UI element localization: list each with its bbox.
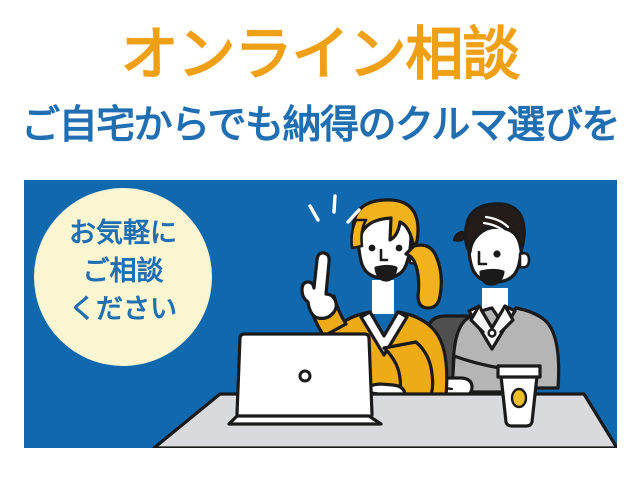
badge-line-2: ご相談	[34, 252, 212, 290]
online-consultation-banner: オンライン相談 ご自宅からでも納得のクルマ選びを	[0, 0, 640, 480]
badge-line-1: お気軽に	[34, 214, 212, 252]
consultation-badge-text: お気軽に ご相談 ください	[34, 214, 212, 328]
illustration-panel: お気軽に ご相談 ください	[24, 180, 617, 448]
badge-line-3: ください	[34, 290, 212, 328]
page-title: オンライン相談	[0, 24, 640, 86]
page-subtitle: ご自宅からでも納得のクルマ選びを	[0, 104, 640, 148]
